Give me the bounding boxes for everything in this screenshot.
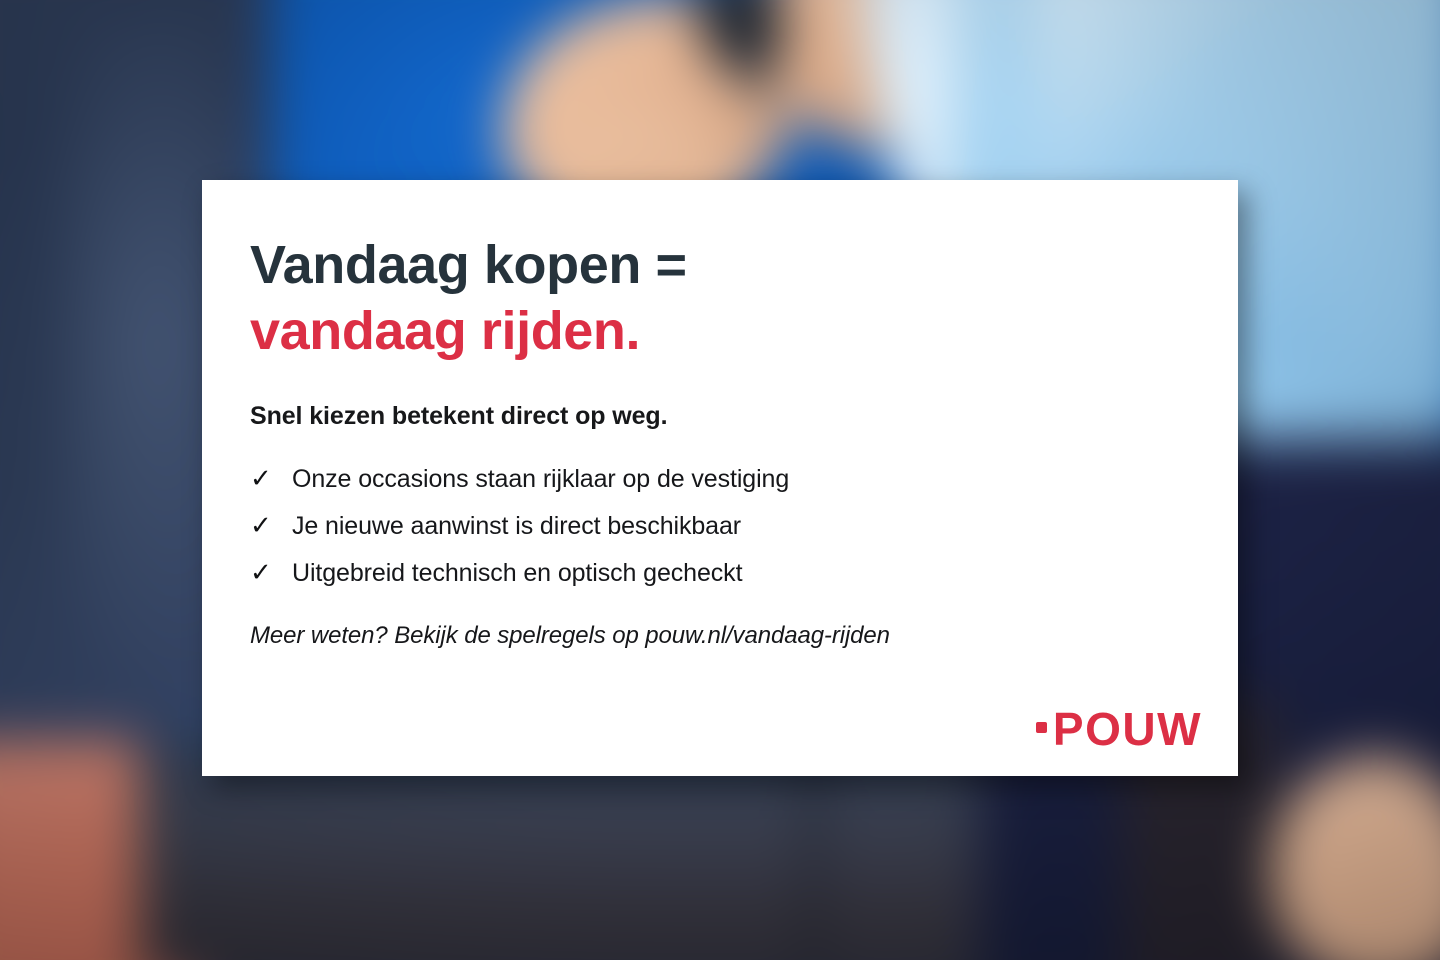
list-item-label: Uitgebreid technisch en optisch gecheckt (292, 558, 742, 588)
logo-wordmark: POUW (1053, 706, 1202, 752)
list-item-label: Je nieuwe aanwinst is direct beschikbaar (292, 511, 741, 541)
list-item: ✓ Uitgebreid technisch en optisch gechec… (250, 557, 1178, 588)
logo-dot-icon (1036, 722, 1047, 733)
page-title: Vandaag kopen = vandaag rijden. (250, 232, 1178, 364)
promo-card: Vandaag kopen = vandaag rijden. Snel kie… (202, 180, 1238, 776)
subheading: Snel kiezen betekent direct op weg. (250, 402, 1178, 431)
headline-line-1: Vandaag kopen = (250, 232, 1178, 298)
check-icon: ✓ (250, 510, 270, 540)
list-item-label: Onze occasions staan rijklaar op de vest… (292, 464, 789, 494)
list-item: ✓ Je nieuwe aanwinst is direct beschikba… (250, 510, 1178, 541)
check-icon: ✓ (250, 463, 270, 493)
footnote-text: Meer weten? Bekijk de spelregels op pouw… (250, 622, 1178, 650)
headline-line-2: vandaag rijden. (250, 298, 1178, 364)
list-item: ✓ Onze occasions staan rijklaar op de ve… (250, 463, 1178, 494)
promo-banner: Vandaag kopen = vandaag rijden. Snel kie… (0, 0, 1440, 960)
pouw-logo: POUW (1036, 706, 1202, 752)
check-icon: ✓ (250, 557, 270, 587)
benefit-list: ✓ Onze occasions staan rijklaar op de ve… (250, 463, 1178, 588)
